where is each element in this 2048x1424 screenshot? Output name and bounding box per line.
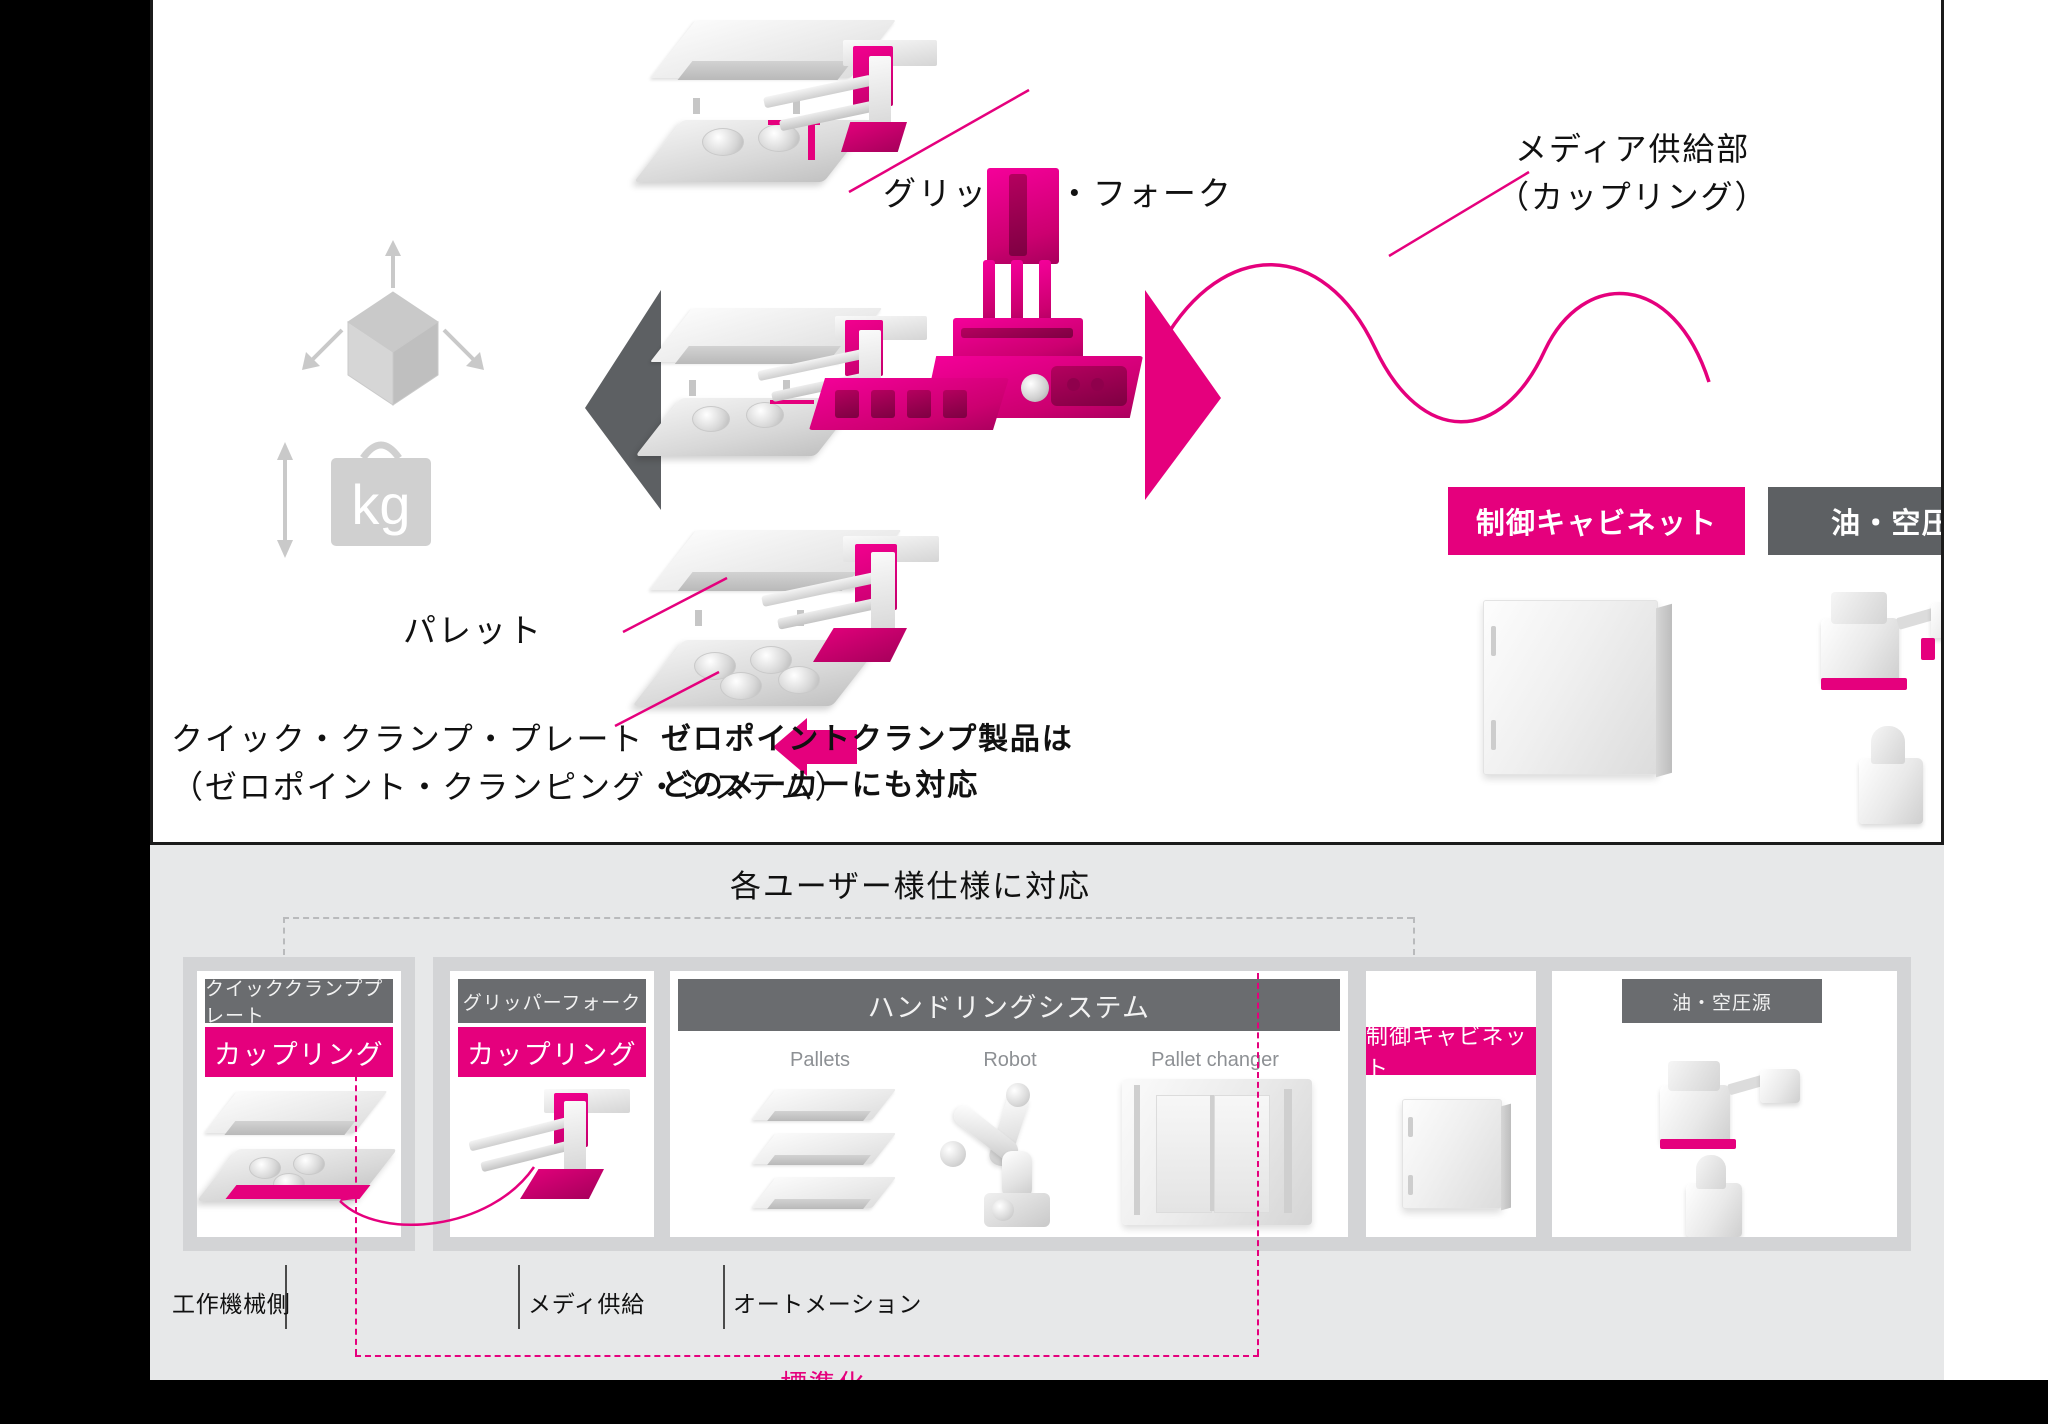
foot-rule-3 — [723, 1265, 725, 1329]
standardization-label: 標準化 — [780, 1363, 866, 1380]
pneumatic-pump-render — [1843, 718, 1941, 833]
card-handling-system[interactable]: ハンドリングシステム Pallets Robot Pallet changer — [670, 971, 1348, 1237]
pallet-render-col1 — [221, 1091, 371, 1153]
weight-kg-icon: kg — [271, 440, 486, 560]
triangle-left-icon — [583, 290, 663, 515]
hydraulic-unit-render — [1801, 578, 1941, 698]
callout-media-supply-line1: メディア供給部 — [1515, 124, 1750, 170]
subcaption-pallet-changer: Pallet changer — [1120, 1049, 1310, 1072]
handling-unit-magenta — [803, 160, 1223, 460]
chip-control-cabinet: 制御キャビネット — [1448, 487, 1745, 555]
bracket-right — [1413, 917, 1415, 955]
callout-media-supply-line2: （カップリング） — [1497, 172, 1768, 218]
standardization-dash-left — [355, 1065, 357, 1355]
pneumatic-pump-render-bottom — [1672, 1149, 1782, 1237]
bracket-left — [283, 917, 285, 955]
subcaption-pallets: Pallets — [740, 1049, 900, 1072]
media-hose-lines — [1153, 232, 1753, 502]
card-header-gripper-fork: グリッパーフォーク — [458, 979, 646, 1023]
standardization-dash-right — [1257, 973, 1259, 1355]
bottom-panel-title: 各ユーザー様仕様に対応 — [730, 861, 1091, 906]
card-header-handling-system: ハンドリングシステム — [678, 979, 1340, 1031]
letterbox-bottom — [0, 1380, 2048, 1424]
card-control-cabinet[interactable]: 制御キャビネット — [1366, 971, 1536, 1237]
card-gripper-fork[interactable]: グリッパーフォーク カップリング — [450, 971, 654, 1237]
gripper-fork-top — [765, 40, 945, 170]
gripper-fork-bottom — [765, 536, 955, 686]
callout-quick-clamp-line1: クイック・クランプ・プレート — [171, 714, 644, 760]
callout-pallet: パレット — [403, 604, 543, 652]
control-cabinet-render-bottom — [1402, 1099, 1502, 1209]
pallet-changer-render — [1122, 1079, 1312, 1225]
note-zero-point-line1: ゼロポイントクランプ製品は — [661, 714, 1074, 758]
chip-control-cabinet-bottom: 制御キャビネット — [1366, 1027, 1536, 1075]
foot-rule-2 — [518, 1265, 520, 1329]
letterbox-left — [0, 0, 150, 1424]
card-header-quick-clamp-plate: クイッククランププレート — [205, 979, 393, 1023]
foot-label-automation: オートメーション — [733, 1285, 922, 1319]
control-cabinet-render — [1483, 600, 1658, 775]
standardization-dash-bottom — [355, 1355, 1259, 1357]
pallet-render-a — [764, 1089, 884, 1135]
svg-text:kg: kg — [351, 473, 410, 536]
gripper-fork-render-col2 — [472, 1089, 642, 1219]
foot-label-media-supply: メディ供給 — [528, 1285, 645, 1319]
foot-label-machine-tool-side: 工作機械側 — [172, 1285, 290, 1319]
coupling-badge-gripper-fork: カップリング — [458, 1027, 646, 1077]
subcaption-robot: Robot — [930, 1049, 1090, 1072]
chip-hydraulic-source: 油・空圧源 — [1768, 487, 1941, 555]
bottom-overview-panel: 各ユーザー様仕様に対応 クイッククランププレート カップリング — [150, 845, 1944, 1380]
cube-axes-icon — [298, 240, 488, 440]
pallet-render-b — [764, 1133, 884, 1179]
card-hydraulic-source[interactable]: 油・空圧源 — [1552, 971, 1897, 1237]
card-quick-clamp-plate[interactable]: クイッククランププレート カップリング — [197, 971, 401, 1237]
coupling-badge-quick-clamp: カップリング — [205, 1027, 393, 1077]
robot-arm-render — [928, 1081, 1108, 1231]
note-zero-point-line2: どのメーカーにも対応 — [661, 760, 979, 804]
diagram-canvas: kg — [0, 0, 2048, 1424]
card-header-hydraulic-source: 油・空圧源 — [1622, 979, 1822, 1023]
top-illustration-panel: kg — [150, 0, 1944, 845]
bracket-top — [283, 917, 1413, 919]
clamp-plate-render-col1 — [217, 1149, 377, 1201]
pallet-render-c — [764, 1177, 884, 1223]
hydraulic-unit-render-bottom — [1642, 1049, 1822, 1159]
